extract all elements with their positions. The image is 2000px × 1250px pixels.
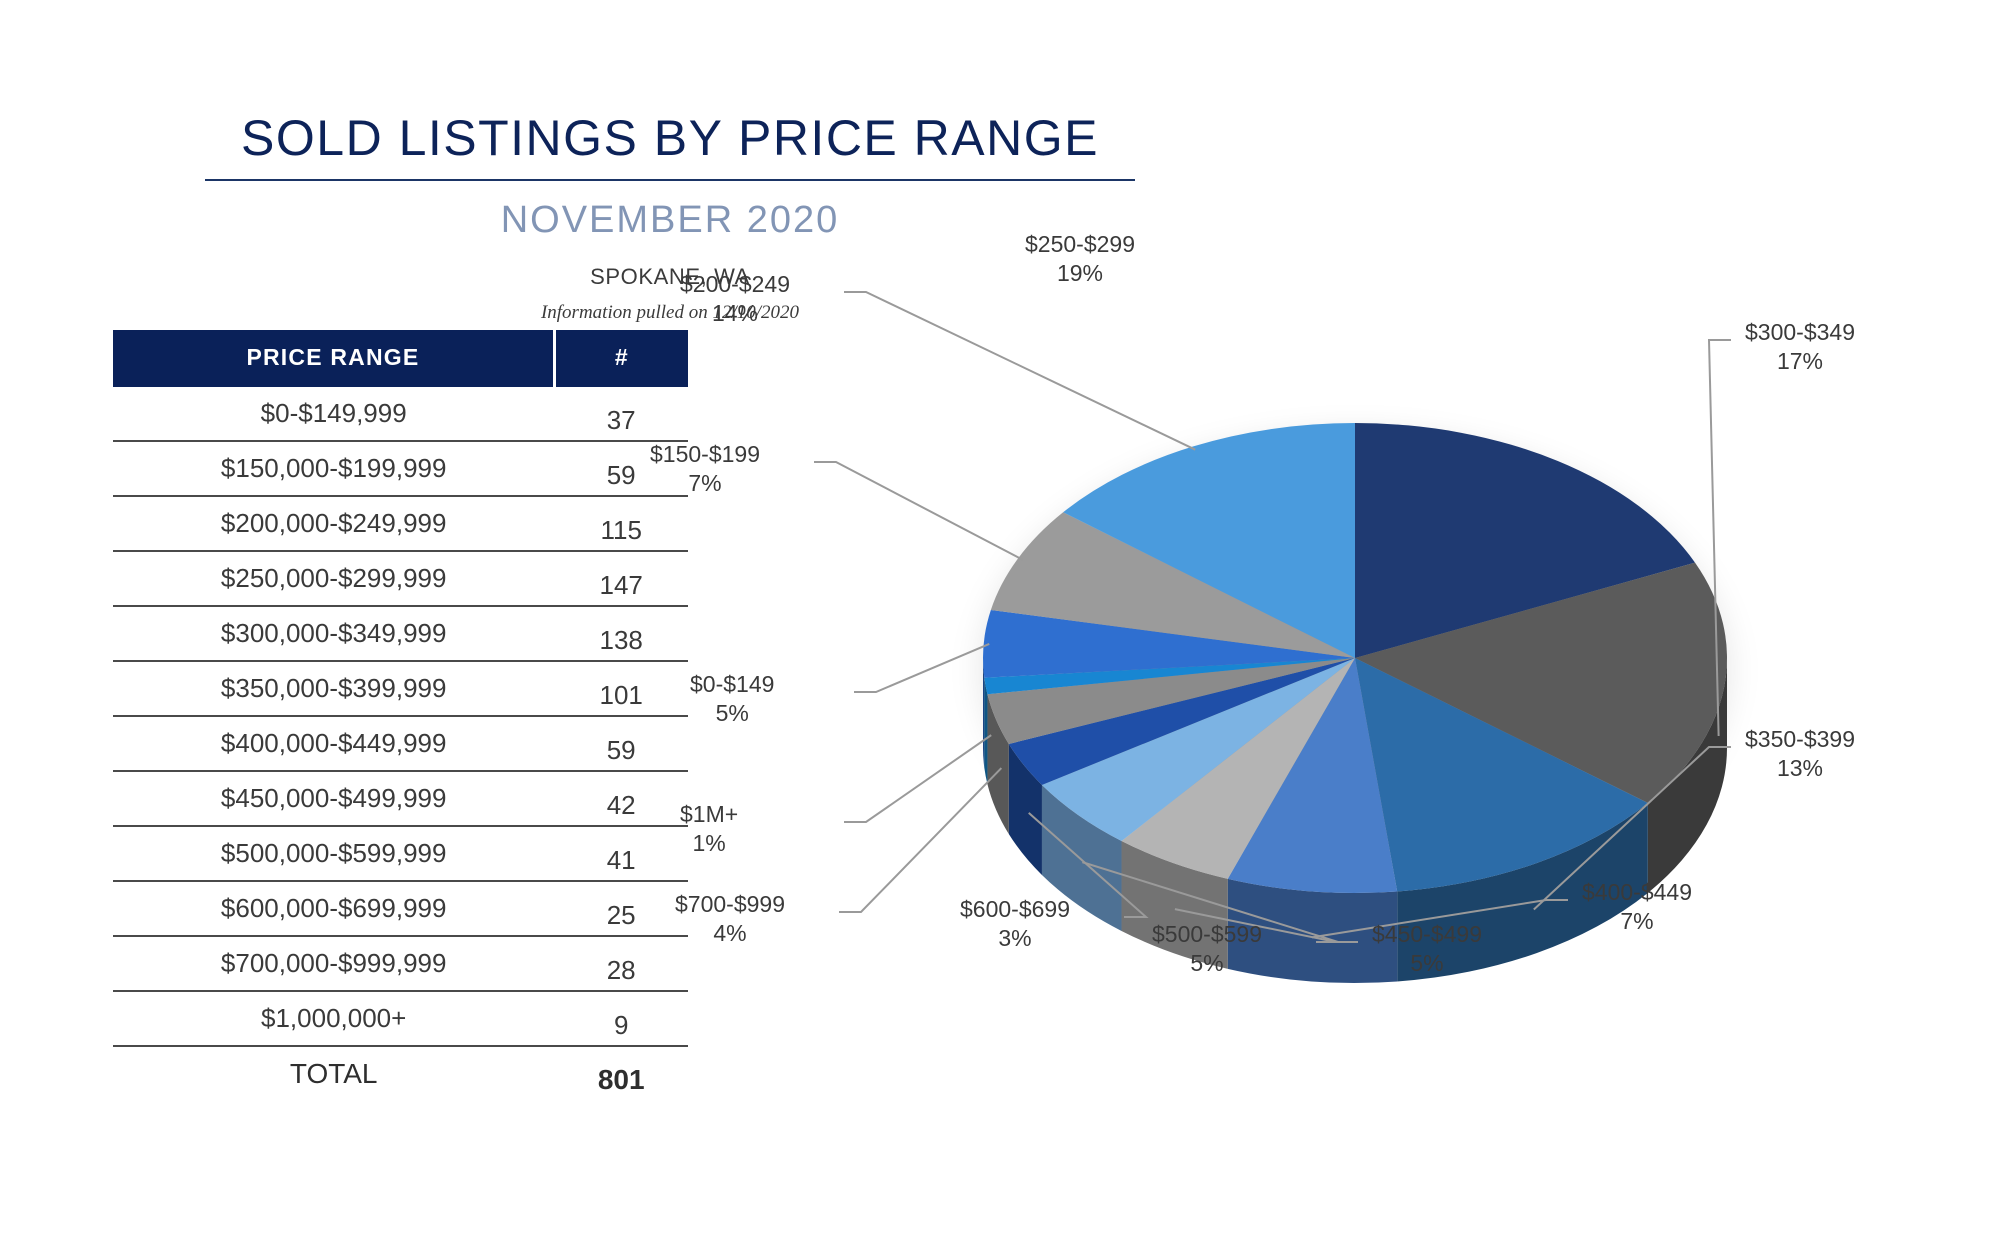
pie-label-name: $150-$199 xyxy=(650,440,760,469)
pie-slice-side xyxy=(984,678,987,784)
pie-label-percent: 5% xyxy=(1152,949,1262,978)
table-row: $150,000-$199,99959 xyxy=(113,441,688,496)
pie-top-surface xyxy=(983,423,1727,893)
cell-price-range: $700,000-$999,999 xyxy=(113,936,554,991)
pie-leader-line xyxy=(814,462,1023,560)
total-value: 801 xyxy=(554,1046,688,1100)
pie-label: $450-$4995% xyxy=(1372,920,1482,979)
table-row: $400,000-$449,99959 xyxy=(113,716,688,771)
pie-label-percent: 14% xyxy=(680,299,790,328)
table-row: $300,000-$349,999138 xyxy=(113,606,688,661)
pie-label-percent: 5% xyxy=(1372,949,1482,978)
pie-label: $600-$6993% xyxy=(960,895,1070,954)
total-label: TOTAL xyxy=(113,1046,554,1100)
pie-label-percent: 17% xyxy=(1745,347,1855,376)
pie-label-name: $350-$399 xyxy=(1745,725,1855,754)
pie-label-percent: 13% xyxy=(1745,754,1855,783)
pie-leader-line xyxy=(844,735,991,822)
pie-label-name: $400-$449 xyxy=(1582,878,1692,907)
pie-label: $0-$1495% xyxy=(690,670,774,729)
cell-price-range: $1,000,000+ xyxy=(113,991,554,1046)
cell-price-range: $150,000-$199,999 xyxy=(113,441,554,496)
pie-label: $700-$9994% xyxy=(675,890,785,949)
column-header-price-range: PRICE RANGE xyxy=(113,330,554,387)
pie-label: $400-$4497% xyxy=(1582,878,1692,937)
cell-count: 101 xyxy=(554,661,688,716)
table-header-row: PRICE RANGE # xyxy=(113,330,688,387)
pie-label-name: $450-$499 xyxy=(1372,920,1482,949)
pie-chart: $250-$29919%$300-$34917%$350-$39913%$400… xyxy=(700,230,2000,1090)
table-row: $350,000-$399,999101 xyxy=(113,661,688,716)
table-body: $0-$149,99937$150,000-$199,99959$200,000… xyxy=(113,387,688,1100)
cell-price-range: $450,000-$499,999 xyxy=(113,771,554,826)
pie-label-percent: 7% xyxy=(650,469,760,498)
cell-count: 59 xyxy=(554,716,688,771)
cell-count: 37 xyxy=(554,387,688,441)
pie-label-percent: 3% xyxy=(960,924,1070,953)
table-head: PRICE RANGE # xyxy=(113,330,688,387)
pie-label-name: $500-$599 xyxy=(1152,920,1262,949)
pie-label: $500-$5995% xyxy=(1152,920,1262,979)
cell-price-range: $0-$149,999 xyxy=(113,387,554,441)
cell-price-range: $600,000-$699,999 xyxy=(113,881,554,936)
cell-price-range: $200,000-$249,999 xyxy=(113,496,554,551)
cell-count: 28 xyxy=(554,936,688,991)
pie-label: $350-$39913% xyxy=(1745,725,1855,784)
pie-label-name: $1M+ xyxy=(680,800,738,829)
cell-price-range: $300,000-$349,999 xyxy=(113,606,554,661)
table-row: $0-$149,99937 xyxy=(113,387,688,441)
cell-count: 9 xyxy=(554,991,688,1046)
cell-count: 41 xyxy=(554,826,688,881)
pie-label-percent: 7% xyxy=(1582,907,1692,936)
table-row: $250,000-$299,999147 xyxy=(113,551,688,606)
table-row: $600,000-$699,99925 xyxy=(113,881,688,936)
pie-label-percent: 19% xyxy=(1025,259,1135,288)
table-row: $500,000-$599,99941 xyxy=(113,826,688,881)
column-header-count: # xyxy=(554,330,688,387)
table-total-row: TOTAL801 xyxy=(113,1046,688,1100)
cell-count: 25 xyxy=(554,881,688,936)
table-row: $450,000-$499,99942 xyxy=(113,771,688,826)
cell-price-range: $250,000-$299,999 xyxy=(113,551,554,606)
pie-label: $250-$29919% xyxy=(1025,230,1135,289)
page-title: SOLD LISTINGS BY PRICE RANGE xyxy=(0,112,1340,165)
pie-label-percent: 1% xyxy=(680,829,738,858)
cell-price-range: $500,000-$599,999 xyxy=(113,826,554,881)
pie-label-name: $700-$999 xyxy=(675,890,785,919)
cell-price-range: $400,000-$449,999 xyxy=(113,716,554,771)
pie-label-name: $200-$249 xyxy=(680,270,790,299)
price-range-table: PRICE RANGE # $0-$149,99937$150,000-$199… xyxy=(113,330,688,1100)
table: PRICE RANGE # $0-$149,99937$150,000-$199… xyxy=(113,330,688,1100)
pie-label: $300-$34917% xyxy=(1745,318,1855,377)
pie-leader-line xyxy=(844,292,1195,450)
cell-price-range: $350,000-$399,999 xyxy=(113,661,554,716)
pie-label-percent: 5% xyxy=(690,699,774,728)
pie-label: $150-$1997% xyxy=(650,440,760,499)
pie-label-name: $300-$349 xyxy=(1745,318,1855,347)
pie-label-name: $250-$299 xyxy=(1025,230,1135,259)
table-row: $700,000-$999,99928 xyxy=(113,936,688,991)
cell-count: 147 xyxy=(554,551,688,606)
cell-count: 138 xyxy=(554,606,688,661)
table-row: $1,000,000+9 xyxy=(113,991,688,1046)
pie-label-name: $600-$699 xyxy=(960,895,1070,924)
cell-count: 42 xyxy=(554,771,688,826)
pie-label-name: $0-$149 xyxy=(690,670,774,699)
cell-count: 115 xyxy=(554,496,688,551)
pie-leader-line xyxy=(839,768,1001,912)
pie-label-percent: 4% xyxy=(675,919,785,948)
title-underline xyxy=(205,179,1135,181)
pie-label: $1M+1% xyxy=(680,800,738,859)
pie-label: $200-$24914% xyxy=(680,270,790,329)
table-row: $200,000-$249,999115 xyxy=(113,496,688,551)
